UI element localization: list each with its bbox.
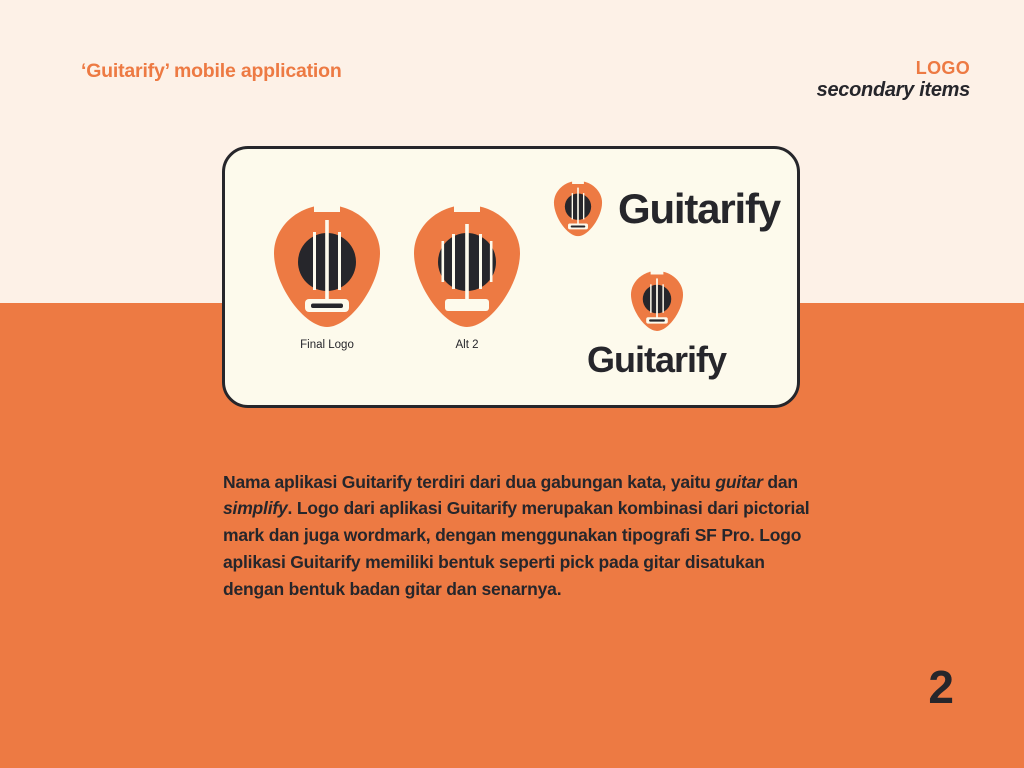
paragraph-segment-4: . Logo dari aplikasi Guitarify merupakan… [223,498,809,599]
logo-mark-alt-2-label: Alt 2 [412,339,522,351]
guitar-pick-icon-stacked [630,269,684,333]
logo-mark-alt-2[interactable]: Alt 2 [412,201,522,331]
paragraph-segment-1: guitar [715,472,762,492]
description-paragraph: Nama aplikasi Guitarify terdiri dari dua… [223,469,823,604]
horizontal-lockup-wordmark: Guitarify [618,188,780,230]
logo-mark-final-label: Final Logo [272,339,382,351]
guitar-pick-icon-small [553,179,603,238]
paragraph-segment-3: simplify [223,498,288,518]
logo-mark-final[interactable]: Final Logo [272,201,382,331]
section-subtitle: secondary items [817,80,970,102]
vertical-lockup-wordmark: Guitarify [587,342,726,378]
paragraph-segment-2: dan [763,472,798,492]
header-right-group: LOGO secondary items [817,59,970,102]
paragraph-segment-0: Nama aplikasi Guitarify terdiri dari dua… [223,472,715,492]
guitar-pick-alt-icon [412,201,522,331]
slide-canvas: ‘Guitarify’ mobile application LOGO seco… [0,0,1024,768]
section-label: LOGO [817,59,970,78]
page-title: ‘Guitarify’ mobile application [81,60,342,83]
logo-showcase-card: Final Logo Alt 2 [222,146,800,408]
horizontal-lockup[interactable]: Guitarify [553,179,780,238]
guitar-pick-icon [272,201,382,331]
vertical-lockup[interactable]: Guitarify [587,269,726,378]
page-number: 2 [928,664,954,710]
